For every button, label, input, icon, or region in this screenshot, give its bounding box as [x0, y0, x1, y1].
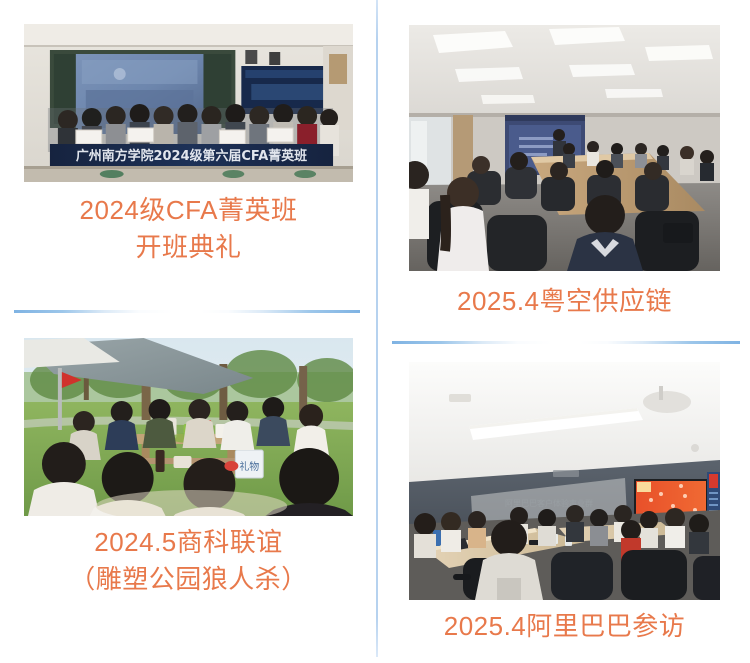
svg-text:广州南方学院2024级第六届CFA菁英班: 广州南方学院2024级第六届CFA菁英班: [76, 148, 307, 164]
card-business-social[interactable]: 礼物: [0, 320, 377, 663]
svg-text:礼物: 礼物: [239, 460, 259, 473]
card-caption-alibaba-visit: 2025.4阿里巴巴参访: [409, 608, 720, 645]
row-divider-right: [392, 341, 740, 344]
photo-conference-room[interactable]: [409, 25, 720, 271]
card-caption-cfa-elite-class: 2024级CFA菁英班 开班典礼: [24, 192, 353, 266]
card-caption-business-social: 2024.5商科联谊 （雕塑公园狼人杀）: [24, 524, 353, 598]
photo-outdoor-gathering[interactable]: 礼物: [24, 338, 353, 516]
conference-room-photo-art: [409, 25, 720, 271]
photo-office-meeting[interactable]: 阿里巴巴客户体验事业群: [409, 362, 720, 600]
row-divider-left: [14, 310, 360, 313]
photo-grid: 广州南方学院2024级第六届CFA菁英班 2024级CFA菁英班 开班典礼: [0, 0, 750, 663]
office-meeting-photo-art: 阿里巴巴客户体验事业群: [409, 362, 720, 600]
card-yuekong-supply-chain[interactable]: 2025.4粤空供应链: [377, 0, 750, 320]
card-caption-yuekong-supply-chain: 2025.4粤空供应链: [409, 283, 720, 320]
photo-classroom-group[interactable]: 广州南方学院2024级第六届CFA菁英班: [24, 24, 353, 182]
column-divider: [376, 0, 378, 657]
classroom-group-photo-art: 广州南方学院2024级第六届CFA菁英班: [24, 24, 353, 182]
card-alibaba-visit[interactable]: 阿里巴巴客户体验事业群: [377, 320, 750, 663]
card-cfa-elite-class[interactable]: 广州南方学院2024级第六届CFA菁英班 2024级CFA菁英班 开班典礼: [0, 0, 377, 320]
outdoor-park-photo-art: 礼物: [24, 338, 353, 516]
